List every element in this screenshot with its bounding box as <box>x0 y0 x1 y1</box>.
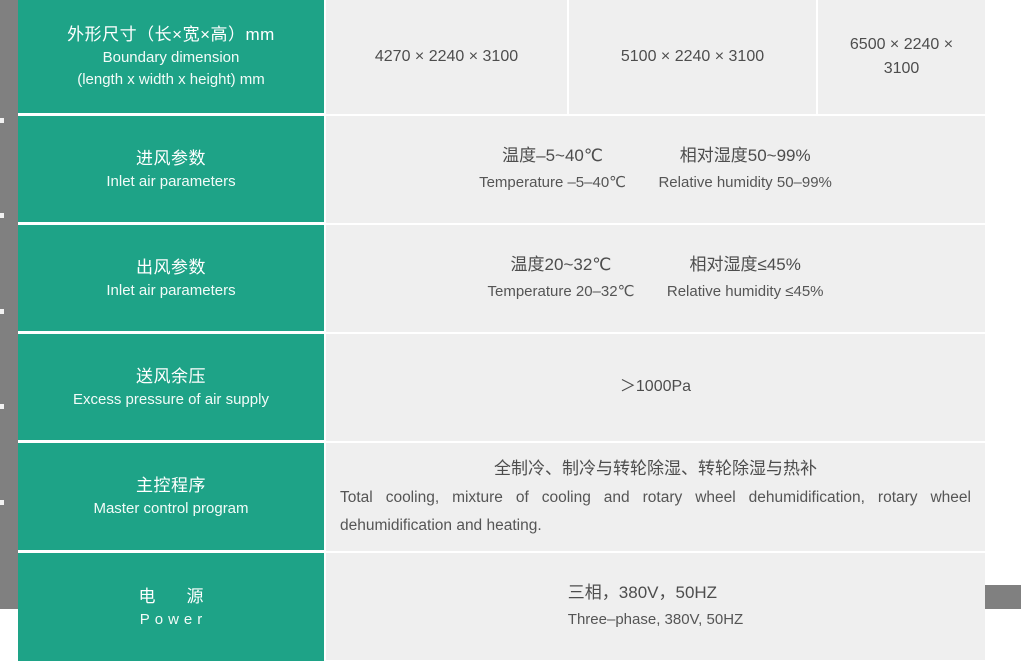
cell-power-value: 三相，380V，50HZ Three–phase, 380V, 50HZ <box>325 552 985 662</box>
page-edge-tick <box>0 500 4 505</box>
value-group-humidity: 相对湿度≤45% Relative humidity ≤45% <box>667 251 824 305</box>
page-edge-tick <box>0 118 4 123</box>
row-label-cn: 主控程序 <box>26 473 316 498</box>
value-cn: 全制冷、制冷与转轮除湿、转轮除湿与热补 <box>340 454 971 484</box>
table-row: 外形尺寸（长×宽×高）mm Boundary dimension (length… <box>18 0 985 115</box>
row-label-en-line1: Power <box>26 609 316 631</box>
row-label-cn: 电 源 <box>26 584 316 609</box>
table-row: 电 源 Power 三相，380V，50HZ Three–phase, 380V… <box>18 552 985 662</box>
row-label-cn: 外形尺寸（长×宽×高）mm <box>26 22 316 47</box>
value-group-temperature: 温度20~32℃ Temperature 20–32℃ <box>487 251 634 305</box>
row-label-en-line2: (length x width x height) mm <box>26 69 316 91</box>
value-en: Temperature –5–40℃ <box>479 170 626 196</box>
table-row: 送风余压 Excess pressure of air supply ＞1000… <box>18 333 985 442</box>
page-left-gutter <box>0 0 18 585</box>
row-label-en-line1: Excess pressure of air supply <box>26 389 316 411</box>
cell-value: 4270 × 2240 × 3100 <box>375 48 518 65</box>
row-label-boundary-dimension: 外形尺寸（长×宽×高）mm Boundary dimension (length… <box>18 0 325 115</box>
value-en: Temperature 20–32℃ <box>487 279 634 305</box>
cell-outlet-air-parameters-value: 温度20~32℃ Temperature 20–32℃ 相对湿度≤45% Rel… <box>325 224 985 333</box>
row-label-en-line1: Inlet air parameters <box>26 171 316 193</box>
table-row: 主控程序 Master control program 全制冷、制冷与转轮除湿、… <box>18 442 985 552</box>
row-label-inlet-air-parameters: 进风参数 Inlet air parameters <box>18 115 325 224</box>
specification-table: 外形尺寸（长×宽×高）mm Boundary dimension (length… <box>18 0 985 662</box>
value-en: Relative humidity ≤45% <box>667 279 824 305</box>
value-cn: 温度20~32℃ <box>487 251 634 279</box>
table-row: 进风参数 Inlet air parameters 温度–5~40℃ Tempe… <box>18 115 985 224</box>
value-cn: 相对湿度≤45% <box>667 251 824 279</box>
cell-value: 6500 × 2240 × 3100 <box>850 36 953 77</box>
row-label-en-line1: Master control program <box>26 498 316 520</box>
cell-master-control-program-value: 全制冷、制冷与转轮除湿、转轮除湿与热补 Total cooling, mixtu… <box>325 442 985 552</box>
row-label-excess-pressure: 送风余压 Excess pressure of air supply <box>18 333 325 442</box>
value-cn: 三相，380V，50HZ <box>568 579 743 607</box>
value-pair-power: 三相，380V，50HZ Three–phase, 380V, 50HZ <box>568 579 743 633</box>
value-en: Relative humidity 50–99% <box>658 170 831 196</box>
spec-sheet-page: 外形尺寸（长×宽×高）mm Boundary dimension (length… <box>0 0 1021 609</box>
page-edge-tick <box>0 213 4 218</box>
row-label-cn: 出风参数 <box>26 255 316 280</box>
row-label-master-control-program: 主控程序 Master control program <box>18 442 325 552</box>
cell-boundary-dimension-model-c: 6500 × 2240 × 3100 <box>817 0 985 115</box>
cell-value: ＞1000Pa <box>620 378 691 395</box>
page-edge-tick <box>0 309 4 314</box>
value-en: Total cooling, mixture of cooling and ro… <box>340 484 971 540</box>
row-label-en-line1: Boundary dimension <box>26 47 316 69</box>
table-row: 出风参数 Inlet air parameters 温度20~32℃ Tempe… <box>18 224 985 333</box>
row-label-cn: 送风余压 <box>26 364 316 389</box>
value-group-humidity: 相对湿度50~99% Relative humidity 50–99% <box>658 142 831 196</box>
value-cn: 温度–5~40℃ <box>479 142 626 170</box>
page-edge-tick <box>0 404 4 409</box>
row-label-outlet-air-parameters: 出风参数 Inlet air parameters <box>18 224 325 333</box>
value-cn: 相对湿度50~99% <box>658 142 831 170</box>
row-label-en-line1: Inlet air parameters <box>26 280 316 302</box>
cell-value: 5100 × 2240 × 3100 <box>621 48 764 65</box>
cell-boundary-dimension-model-a: 4270 × 2240 × 3100 <box>325 0 568 115</box>
row-label-cn: 进风参数 <box>26 146 316 171</box>
value-en: Three–phase, 380V, 50HZ <box>568 607 743 633</box>
cell-boundary-dimension-model-b: 5100 × 2240 × 3100 <box>568 0 817 115</box>
row-label-power: 电 源 Power <box>18 552 325 662</box>
cell-inlet-air-parameters-value: 温度–5~40℃ Temperature –5–40℃ 相对湿度50~99% R… <box>325 115 985 224</box>
value-group-temperature: 温度–5~40℃ Temperature –5–40℃ <box>479 142 626 196</box>
cell-excess-pressure-value: ＞1000Pa <box>325 333 985 442</box>
